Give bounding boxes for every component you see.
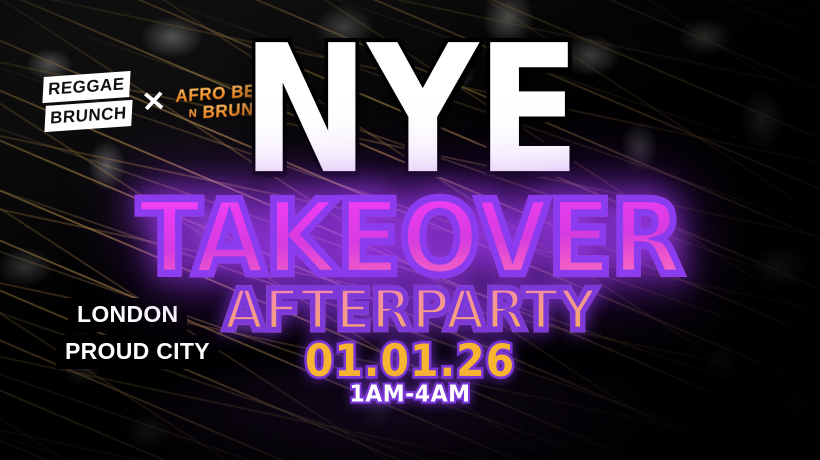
event-time: 1AM-4AM xyxy=(0,383,820,406)
event-poster: REGGAE BRUNCH ✕ AFRO BEATS N BRUNCH LOND… xyxy=(0,0,820,460)
event-date: 01.01.26 xyxy=(0,339,820,383)
headline-occasion: NYE xyxy=(0,23,820,200)
headline-sub: AFTERPARTY xyxy=(0,282,820,339)
headline-main: TAKEOVER xyxy=(0,187,820,289)
